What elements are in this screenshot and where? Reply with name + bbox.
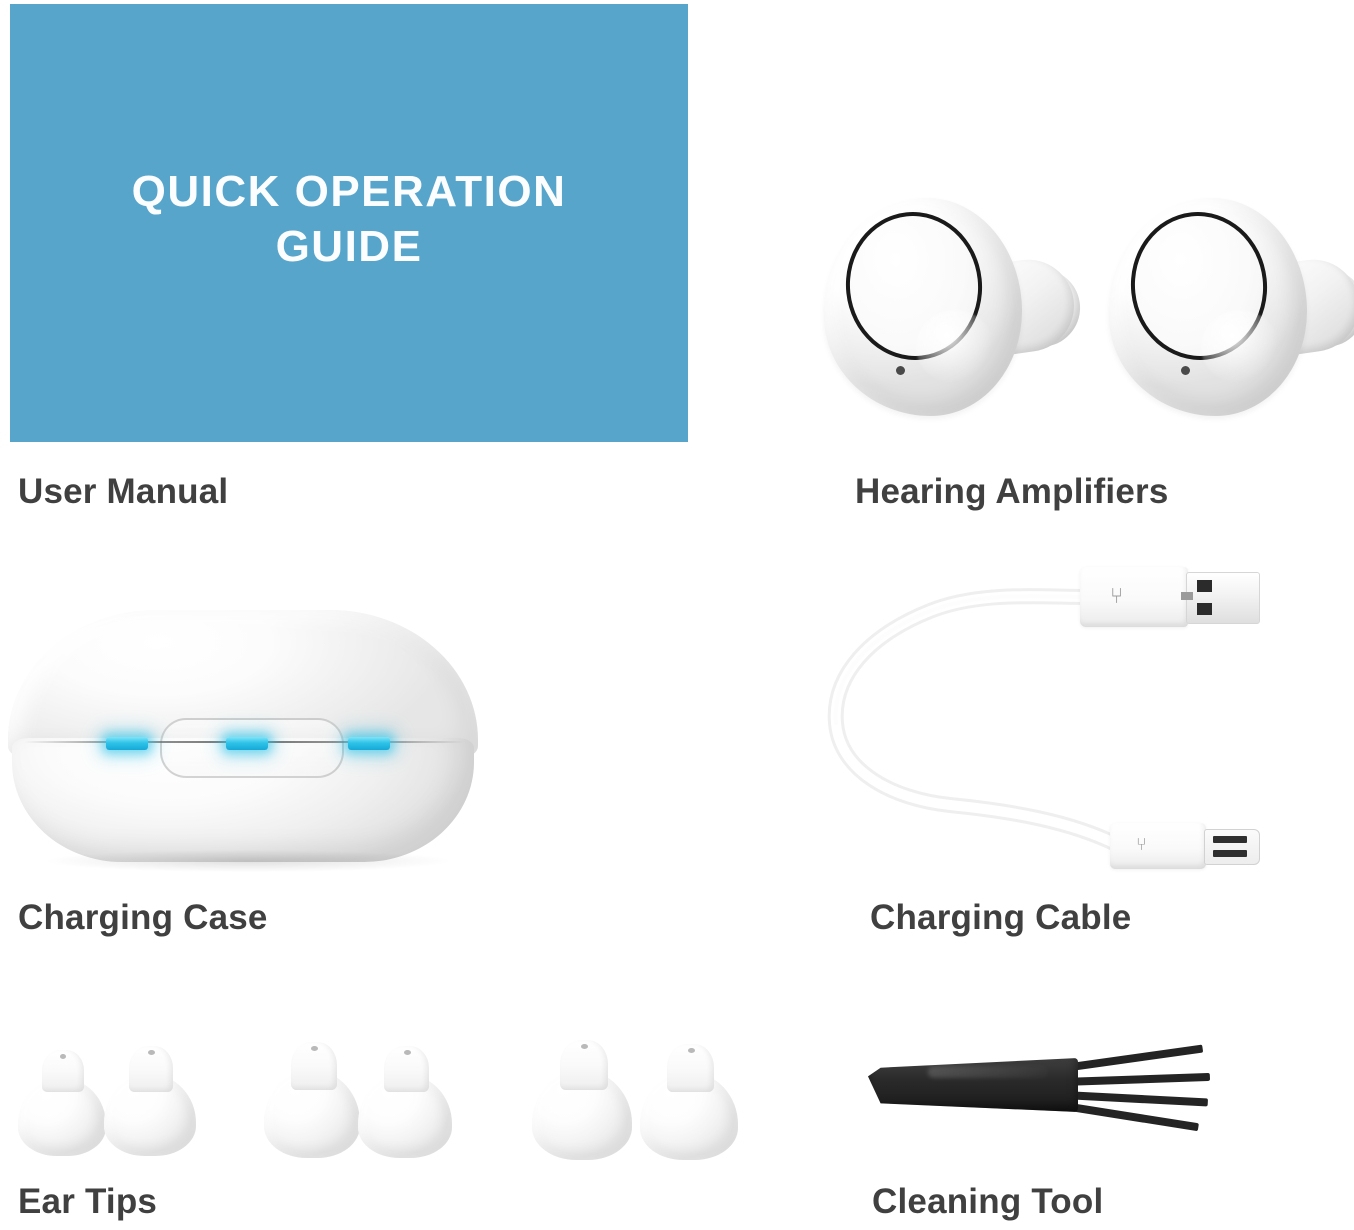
micro-usb-contact-icon [1204, 829, 1260, 865]
ear-tip-large-a [532, 1034, 632, 1160]
ear-tip-medium-b [358, 1040, 452, 1158]
cleaning-tool-bristle [1063, 1102, 1199, 1131]
micro-usb-slot [1213, 850, 1247, 857]
usb-a-contact-icon [1186, 572, 1260, 624]
earbud-highlight [916, 310, 994, 384]
user-manual-cover: QUICK OPERATION GUIDE [10, 4, 688, 442]
charging-case-led-2-icon [226, 737, 268, 750]
charging-case-graphic [8, 610, 478, 865]
ear-tip-bore-icon [60, 1054, 66, 1059]
cleaning-tool-graphic [868, 1038, 1198, 1130]
cleaning-tool-bristle [1063, 1045, 1203, 1072]
usb-symbol-icon: ⑂ [1110, 586, 1123, 608]
ear-tip-large-b [640, 1038, 738, 1160]
user-manual-cover-title: QUICK OPERATION GUIDE [69, 164, 629, 274]
ear-tip-small-a [18, 1044, 106, 1156]
usb-a-pin [1181, 592, 1193, 600]
usb-a-pin [1197, 580, 1212, 592]
ear-tip-bore-icon [581, 1044, 588, 1049]
charging-case-led-1-icon [106, 737, 148, 750]
charging-cable-graphic: ⑂ ⑂ [800, 555, 1270, 885]
micro-usb-plug-housing [1110, 823, 1206, 869]
usb-symbol-icon: ⑂ [1136, 836, 1147, 854]
usb-a-pin [1197, 603, 1212, 615]
ear-tip-bore-icon [148, 1050, 155, 1055]
cleaning-tool-bristle [1064, 1073, 1210, 1086]
label-user-manual: User Manual [18, 474, 228, 509]
ear-tip-bore-icon [404, 1050, 411, 1055]
label-cleaning-tool: Cleaning Tool [872, 1184, 1103, 1219]
cleaning-tool-bristle [1064, 1091, 1208, 1107]
earbud-left [820, 190, 1080, 430]
ear-tip-bore-icon [311, 1046, 318, 1051]
cleaning-tool-highlight [928, 1066, 1048, 1078]
earbud-highlight [1201, 310, 1279, 384]
earbud-mic-hole-icon [896, 366, 905, 375]
label-charging-cable: Charging Cable [870, 900, 1131, 935]
label-charging-case: Charging Case [18, 900, 268, 935]
charging-case-led-3-icon [348, 737, 390, 750]
label-ear-tips: Ear Tips [18, 1184, 157, 1219]
ear-tip-bore-icon [688, 1048, 695, 1053]
earbud-right [1105, 190, 1354, 430]
earbud-mic-hole-icon [1181, 366, 1190, 375]
ear-tip-small-b [104, 1040, 196, 1156]
usb-a-plug-housing [1080, 567, 1188, 627]
charging-case-shadow [48, 850, 448, 872]
ear-tip-medium-a [264, 1036, 360, 1158]
label-hearing-amplifiers: Hearing Amplifiers [855, 474, 1169, 509]
package-contents-sheet: QUICK OPERATION GUIDE User Manual Hearin… [0, 0, 1354, 1230]
micro-usb-slot [1213, 836, 1247, 843]
